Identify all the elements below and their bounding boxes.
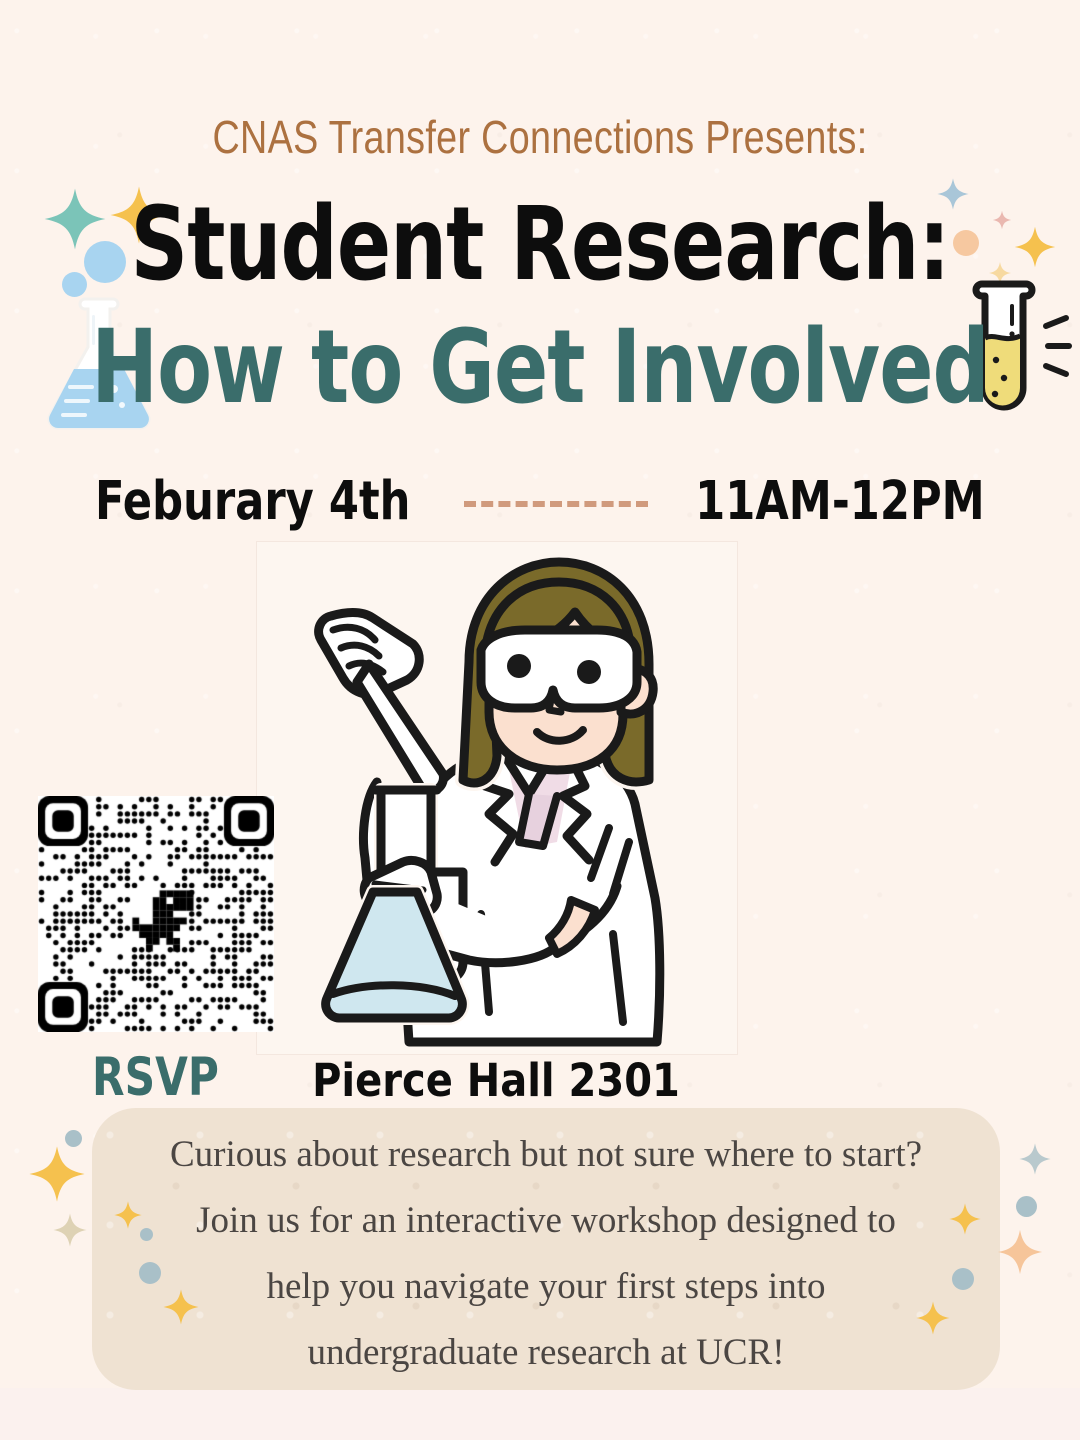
page-title-line1: Student Research: [38,186,1042,304]
event-location: Pierce Hall 2301 [256,1055,736,1107]
blurb-line-1: Curious about research but not sure wher… [92,1122,1000,1188]
sparkle-icon-panel-1 [27,1144,87,1204]
sparkle-icon-panel-6 [1018,1142,1052,1176]
bottom-strip [0,1388,1080,1440]
event-time: 11AM-12PM [695,470,985,533]
rsvp-label: RSVP [92,1046,219,1108]
presenter-line: CNAS Transfer Connections Presents: [97,110,983,164]
page-title-line2: How to Get Involved [38,309,1042,427]
date-time-row: Feburary 4th 11AM-12PM [95,470,985,532]
rsvp-qr-code[interactable] [38,796,274,1032]
scientist-illustration [257,542,737,1054]
sparkle-icon-panel-7 [996,1228,1044,1276]
scientist-illustration-frame [256,541,738,1055]
sparkle-icon-panel-2 [52,1212,88,1248]
dashed-divider [464,501,648,507]
blurb-text: Curious about research but not sure wher… [92,1122,1000,1386]
event-poster: CNAS Transfer Connections Presents: Stud… [0,0,1080,1440]
event-date: Feburary 4th [95,470,410,533]
decor-dot-panel-4 [1016,1196,1037,1217]
blurb-line-3: help you navigate your first steps into [92,1254,1000,1320]
blurb-line-4: undergraduate research at UCR! [92,1320,1000,1386]
decor-dot-panel-1 [65,1130,82,1147]
blurb-line-2: Join us for an interactive workshop desi… [92,1188,1000,1254]
